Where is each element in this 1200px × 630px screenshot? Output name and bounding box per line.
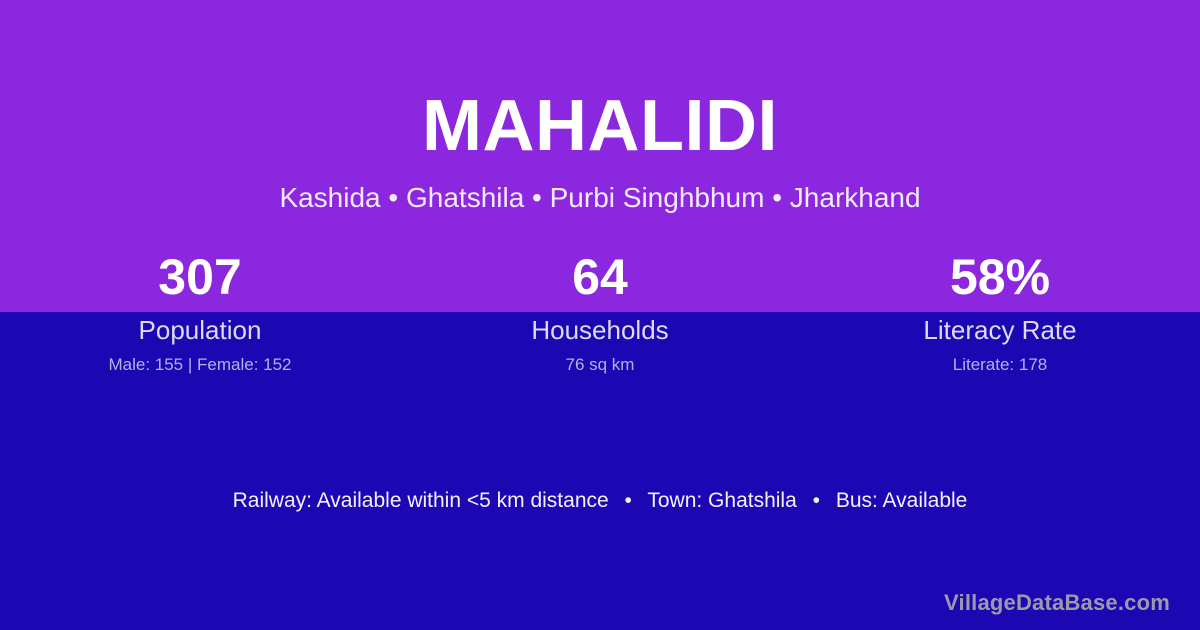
stat-value-population: 307 [0,246,400,308]
amenity-separator-2: • [803,487,830,515]
village-info-card: MAHALIDI Kashida • Ghatshila • Purbi Sin… [0,0,1200,630]
stat-value-literacy-rate: 58% [800,246,1200,308]
stat-sub-population: Male: 155 | Female: 152 [0,346,400,376]
stat-label-population: Population [0,308,400,346]
stat-households: 64 Households 76 sq km [400,246,800,376]
stat-sub-literacy-rate: Literate: 178 [800,346,1200,376]
amenities-line: Railway: Available within <5 km distance… [0,487,1200,515]
stat-label-literacy-rate: Literacy Rate [800,308,1200,346]
stats-row: 307 Population Male: 155 | Female: 152 6… [0,246,1200,376]
stat-literacy-rate: 58% Literacy Rate Literate: 178 [800,246,1200,376]
amenity-railway: Railway: Available within <5 km distance [233,489,609,512]
title-block: MAHALIDI Kashida • Ghatshila • Purbi Sin… [0,78,1200,216]
amenity-separator-1: • [615,487,642,515]
stat-population: 307 Population Male: 155 | Female: 152 [0,246,400,376]
page-title: MAHALIDI [0,78,1200,174]
site-brand-watermark: VillageDataBase.com [944,588,1170,618]
amenity-bus: Bus: Available [836,489,968,512]
stat-label-households: Households [400,308,800,346]
amenity-town: Town: Ghatshila [647,489,796,512]
breadcrumb: Kashida • Ghatshila • Purbi Singhbhum • … [0,174,1200,216]
stat-sub-households: 76 sq km [400,346,800,376]
stat-value-households: 64 [400,246,800,308]
